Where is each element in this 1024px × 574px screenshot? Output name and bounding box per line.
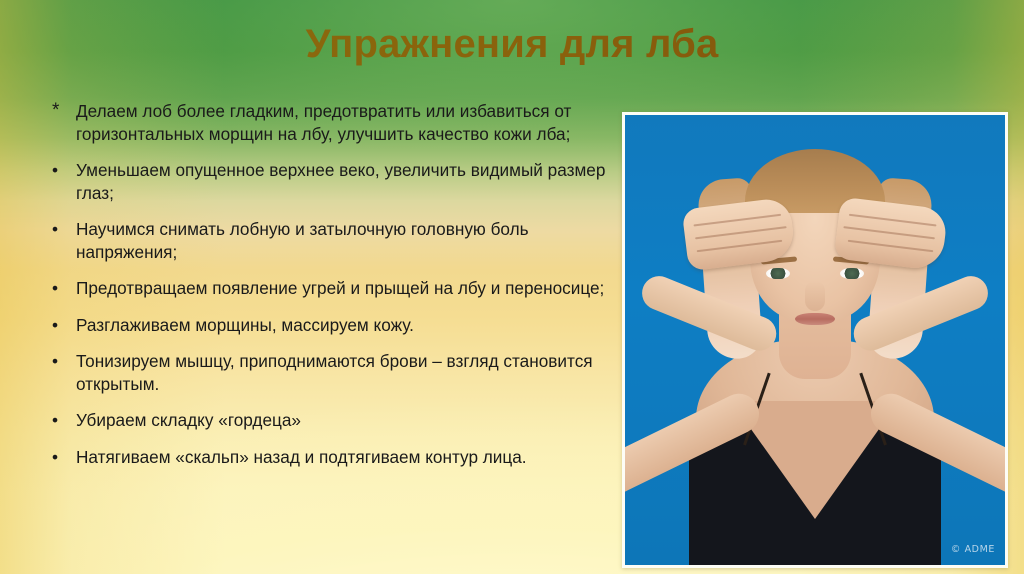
bullet-text: Предотвращаем появление угрей и прыщей н… — [76, 277, 606, 300]
bullet-marker-dot: • — [46, 277, 76, 300]
list-item: • Натягиваем «скальп» назад и подтягивае… — [46, 446, 606, 469]
bullet-marker-dot: • — [46, 409, 76, 432]
slide-title: Упражнения для лба — [0, 22, 1024, 66]
photo-watermark: © ADME — [951, 544, 995, 555]
list-item: • Убираем складку «гордеца» — [46, 409, 606, 432]
nose — [805, 281, 825, 311]
bullet-text: Уменьшаем опущенное верхнее веко, увелич… — [76, 159, 606, 204]
bullet-marker-dot: • — [46, 446, 76, 469]
list-item: • Научимся снимать лобную и затылочную г… — [46, 218, 606, 263]
bullet-text: Делаем лоб более гладким, предотвратить … — [76, 100, 606, 145]
presentation-slide: Упражнения для лба * Делаем лоб более гл… — [0, 0, 1024, 574]
bullet-marker-asterisk: * — [46, 100, 76, 122]
bullet-text: Убираем складку «гордеца» — [76, 409, 606, 432]
bullet-text: Тонизируем мышцу, приподнимаются брови –… — [76, 350, 606, 395]
list-item: • Тонизируем мышцу, приподнимаются брови… — [46, 350, 606, 395]
eyes — [763, 268, 867, 279]
bullet-marker-dot: • — [46, 218, 76, 241]
bullet-marker-dot: • — [46, 350, 76, 373]
photo-frame: © ADME — [622, 112, 1008, 568]
eye-right — [840, 268, 864, 279]
bullet-list: * Делаем лоб более гладким, предотвратит… — [46, 100, 606, 482]
bullet-text: Научимся снимать лобную и затылочную гол… — [76, 218, 606, 263]
exercise-photo: © ADME — [625, 115, 1005, 565]
list-item: • Разглаживаем морщины, массируем кожу. — [46, 314, 606, 337]
list-item: • Предотвращаем появление угрей и прыщей… — [46, 277, 606, 300]
bullet-text: Разглаживаем морщины, массируем кожу. — [76, 314, 606, 337]
bullet-text: Натягиваем «скальп» назад и подтягиваем … — [76, 446, 606, 469]
list-item: • Уменьшаем опущенное верхнее веко, увел… — [46, 159, 606, 204]
mouth — [795, 313, 835, 325]
bullet-marker-dot: • — [46, 159, 76, 182]
bullet-marker-dot: • — [46, 314, 76, 337]
list-item: * Делаем лоб более гладким, предотвратит… — [46, 100, 606, 145]
eye-left — [766, 268, 790, 279]
